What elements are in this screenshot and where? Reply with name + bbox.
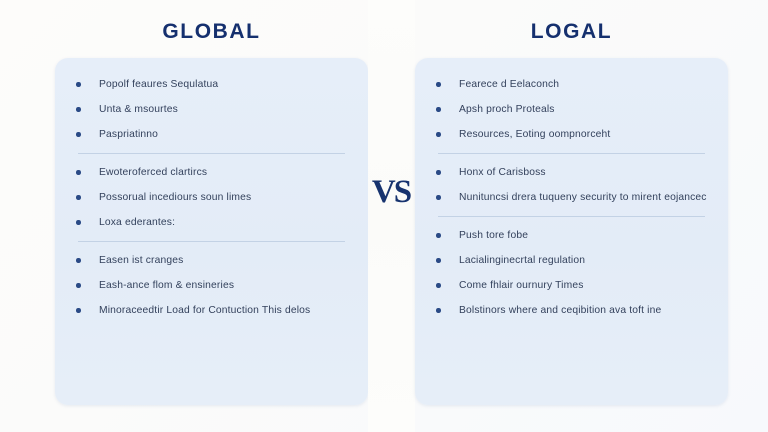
list-item-label: Lacialinginecrtal regulation [459,255,585,266]
bullet-group-global-1: Popolf feaures Sequlatua Unta & msourtes… [73,72,350,142]
list-item: Easen ist cranges [73,253,350,268]
bullet-dot-icon [76,258,81,263]
list-item-label: Honx of Carisboss [459,167,546,178]
list-item-label: Ewoteroferced clartircs [99,167,207,178]
list-item: Resources, Eoting oompnorceht [433,127,710,142]
list-item: Popolf feaures Sequlatua [73,77,350,92]
list-item-label: Apsh proch Proteals [459,104,555,115]
list-item-label: Eash-ance flom & ensineries [99,280,234,291]
bullet-dot-icon [76,107,81,112]
bullet-dot-icon [76,283,81,288]
comparison-column-logal: LOGAL Fearece d Eelaconch Apsh proch Pro… [415,0,728,432]
list-item-label: Popolf feaures Sequlatua [99,79,218,90]
bullet-dot-icon [436,170,441,175]
list-item-label: Bolstinors where and ceqibition ava toft… [459,305,661,316]
bullet-dot-icon [76,132,81,137]
card-global: Popolf feaures Sequlatua Unta & msourtes… [55,58,368,405]
bullet-dot-icon [436,195,441,200]
bullet-group-global-3: Easen ist cranges Eash-ance flom & ensin… [73,242,350,318]
bullet-dot-icon [76,308,81,313]
bullet-group-global-2: Ewoteroferced clartircs Possorual incedi… [73,154,350,230]
bullet-dot-icon [436,258,441,263]
bullet-dot-icon [436,82,441,87]
bullet-dot-icon [76,170,81,175]
bullet-group-logal-2: Honx of Carisboss Nunituncsi drera tuque… [433,154,710,205]
list-item: Nunituncsi drera tuqueny security to mir… [433,190,710,205]
column-title-logal: LOGAL [415,20,728,44]
list-item: Lacialinginecrtal regulation [433,253,710,268]
list-item: Ewoteroferced clartircs [73,165,350,180]
list-item: Fearece d Eelaconch [433,77,710,92]
list-item: Come fhlair ournury Times [433,278,710,293]
comparison-column-global: GLOBAL Popolf feaures Sequlatua Unta & m… [55,0,368,432]
list-item-label: Nunituncsi drera tuqueny security to mir… [459,192,707,203]
versus-label: VS [360,176,422,209]
bullet-dot-icon [436,107,441,112]
list-item: Unta & msourtes [73,102,350,117]
bullet-dot-icon [436,308,441,313]
list-item: Apsh proch Proteals [433,102,710,117]
list-item-label: Resources, Eoting oompnorceht [459,129,610,140]
list-item-label: Loxa ederantes: [99,217,175,228]
comparison-infographic: GLOBAL Popolf feaures Sequlatua Unta & m… [0,0,768,432]
bullet-dot-icon [76,82,81,87]
bullet-dot-icon [436,233,441,238]
column-title-global: GLOBAL [55,20,368,44]
list-item-label: Easen ist cranges [99,255,183,266]
list-item: Possorual incediours soun limes [73,190,350,205]
bullet-dot-icon [76,220,81,225]
list-item-label: Fearece d Eelaconch [459,79,559,90]
list-item-label: Push tore fobe [459,230,528,241]
bullet-dot-icon [436,283,441,288]
list-item: Honx of Carisboss [433,165,710,180]
bullet-dot-icon [76,195,81,200]
list-item-label: Come fhlair ournury Times [459,280,584,291]
bullet-group-logal-1: Fearece d Eelaconch Apsh proch Proteals … [433,72,710,142]
list-item: Push tore fobe [433,228,710,243]
center-divider-band [368,0,415,432]
list-item: Paspriatinno [73,127,350,142]
list-item-label: Possorual incediours soun limes [99,192,251,203]
list-item: Loxa ederantes: [73,215,350,230]
list-item: Minoraceedtir Load for Contuction This d… [73,303,350,318]
list-item-label: Minoraceedtir Load for Contuction This d… [99,305,310,316]
list-item: Bolstinors where and ceqibition ava toft… [433,303,710,318]
list-item-label: Paspriatinno [99,129,158,140]
bullet-group-logal-3: Push tore fobe Lacialinginecrtal regulat… [433,217,710,318]
card-logal: Fearece d Eelaconch Apsh proch Proteals … [415,58,728,405]
list-item: Eash-ance flom & ensineries [73,278,350,293]
list-item-label: Unta & msourtes [99,104,178,115]
bullet-dot-icon [436,132,441,137]
